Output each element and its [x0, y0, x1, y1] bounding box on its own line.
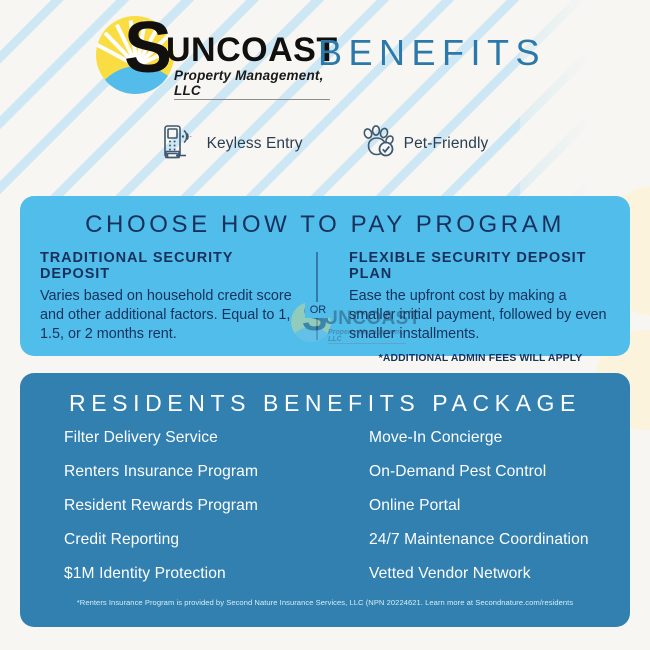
amenity-label: Keyless Entry	[207, 135, 303, 153]
amenity-keyless-entry: Keyless Entry	[162, 124, 303, 165]
list-item: Renters Insurance Program	[64, 464, 325, 480]
amenities-row: Keyless Entry Pet-Friendly	[0, 118, 650, 170]
page-title: BENEFITS	[318, 32, 546, 74]
list-item: On-Demand Pest Control	[369, 464, 630, 480]
header: S UNCOAST Property Management, LLC BENEF…	[0, 6, 650, 98]
list-item: Vetted Vendor Network	[369, 566, 630, 582]
vertical-divider	[316, 252, 318, 340]
list-item: $1M Identity Protection	[64, 566, 325, 582]
card-title: CHOOSE HOW TO PAY PROGRAM	[20, 211, 630, 239]
pay-option-title: FLEXIBLE SECURITY DEPOSIT PLAN	[349, 250, 612, 282]
residents-benefits-package-card: RESIDENTS BENEFITS PACKAGE Filter Delive…	[20, 373, 630, 627]
list-item: 24/7 Maintenance Coordination	[369, 532, 630, 548]
pay-option-flexible: FLEXIBLE SECURITY DEPOSIT PLAN Ease the …	[325, 250, 630, 364]
pay-option-traditional: TRADITIONAL SECURITY DEPOSIT Varies base…	[20, 250, 325, 364]
list-item: Online Portal	[369, 498, 630, 514]
or-divider-label: OR	[305, 302, 331, 318]
insurance-footnote: *Renters Insurance Program is provided b…	[20, 598, 630, 607]
pay-option-body: Ease the upfront cost by making a smalle…	[349, 287, 612, 344]
benefits-list-right: Move-In Concierge On-Demand Pest Control…	[325, 430, 630, 600]
keyless-lock-icon	[162, 124, 200, 165]
list-item: Filter Delivery Service	[64, 430, 325, 446]
paw-print-icon	[359, 124, 397, 165]
card-title: RESIDENTS BENEFITS PACKAGE	[20, 390, 630, 417]
choose-how-to-pay-card: CHOOSE HOW TO PAY PROGRAM TRADITIONAL SE…	[20, 196, 630, 356]
list-item: Move-In Concierge	[369, 430, 630, 446]
list-item: Resident Rewards Program	[64, 498, 325, 514]
benefits-lists: Filter Delivery Service Renters Insuranc…	[20, 430, 630, 600]
benefits-list-left: Filter Delivery Service Renters Insuranc…	[20, 430, 325, 600]
admin-fees-note: *ADDITIONAL ADMIN FEES WILL APPLY	[349, 353, 612, 364]
logo-wordmark: UNCOAST	[166, 33, 338, 67]
logo-tagline: Property Management, LLC	[174, 68, 330, 100]
brand-logo: S UNCOAST Property Management, LLC	[96, 14, 321, 94]
list-item: Credit Reporting	[64, 532, 325, 548]
amenity-pet-friendly: Pet-Friendly	[359, 124, 489, 165]
amenity-label: Pet-Friendly	[404, 135, 489, 153]
pay-option-title: TRADITIONAL SECURITY DEPOSIT	[40, 250, 307, 282]
logo-initial: S	[124, 12, 171, 84]
benefits-flyer: S UNCOAST Property Management, LLC BENEF…	[0, 0, 650, 650]
pay-option-body: Varies based on household credit score a…	[40, 287, 307, 344]
